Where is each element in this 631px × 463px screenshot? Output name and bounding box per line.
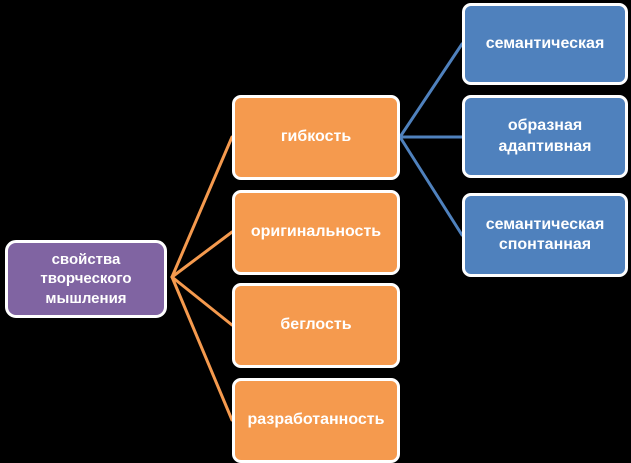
branch-connector-line: [400, 44, 462, 137]
node-branch-label: беглость: [274, 315, 357, 335]
node-leaf-label: семантическая спонтанная: [480, 215, 611, 256]
node-root-label: свойства творческого мышления: [34, 250, 137, 308]
node-leaf-label: образная адаптивная: [492, 116, 597, 157]
root-connector-line: [172, 232, 232, 277]
node-root-properties-of-creative-thinking[interactable]: свойства творческого мышления: [5, 240, 167, 318]
node-branch-originality[interactable]: оригинальность: [232, 190, 400, 275]
node-leaf-semantic[interactable]: семантическая: [462, 3, 628, 85]
node-branch-fluency[interactable]: беглость: [232, 283, 400, 368]
branch-connector-line: [400, 137, 462, 235]
node-branch-elaboration[interactable]: разработанность: [232, 378, 400, 463]
diagram-canvas: свойства творческого мышления гибкость о…: [0, 0, 631, 463]
node-leaf-label: семантическая: [480, 34, 611, 54]
root-connector-group: [172, 137, 232, 420]
branch-connector-group: [400, 44, 462, 235]
node-branch-label: оригинальность: [245, 222, 387, 242]
root-connector-line: [172, 277, 232, 420]
node-leaf-figural-adaptive[interactable]: образная адаптивная: [462, 95, 628, 178]
node-leaf-semantic-spontaneous[interactable]: семантическая спонтанная: [462, 193, 628, 277]
node-branch-label: гибкость: [275, 127, 357, 147]
node-branch-flexibility[interactable]: гибкость: [232, 95, 400, 180]
root-connector-line: [172, 277, 232, 325]
node-branch-label: разработанность: [242, 410, 391, 430]
root-connector-line: [172, 137, 232, 277]
